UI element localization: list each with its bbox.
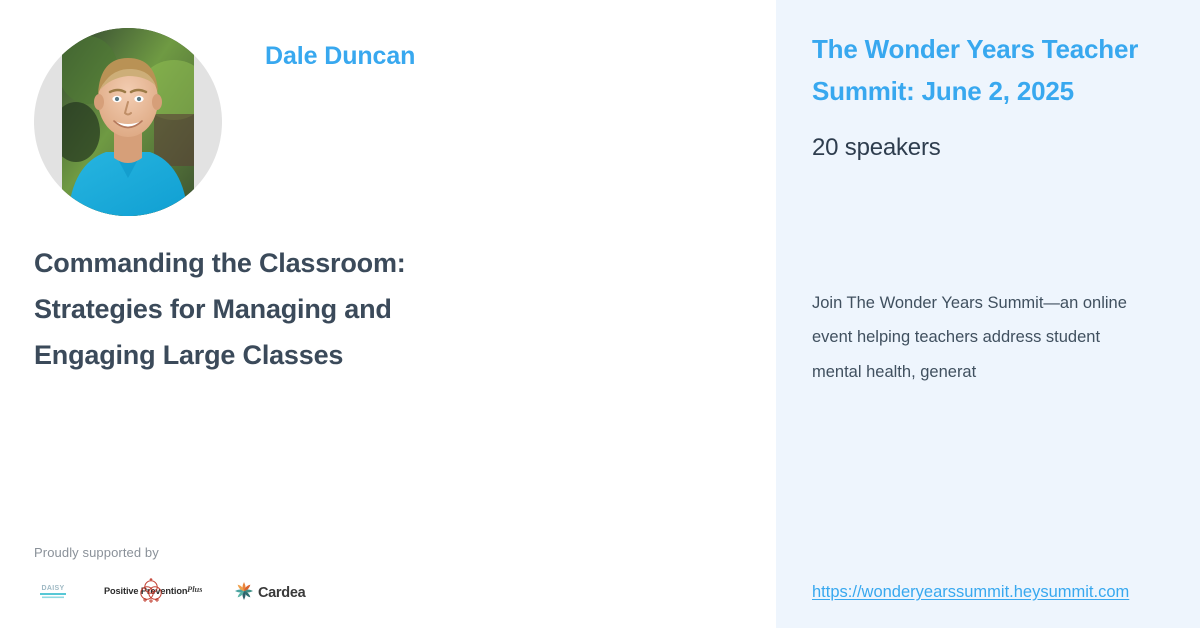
cardea-logo: Cardea [234,580,308,602]
summit-description-line: mental health, generat [812,355,1200,389]
summit-description-line: event helping teachers address student [812,320,1200,354]
positive-prevention-plus-logo-mark: Positive Prevention Plus [104,578,202,604]
sponsors-label: Proudly supported by [34,545,534,560]
positive-prevention-plus-logo: Positive Prevention Plus [104,578,202,604]
speaker-name: Dale Duncan [265,42,415,71]
summit-url[interactable]: https://wonderyearssummit.heysummit.com [812,583,1129,602]
summit-description-line: Join The Wonder Years Summit—an online [812,286,1200,320]
svg-text:Plus: Plus [187,584,202,594]
talk-title: Commanding the Classroom: Strategies for… [34,241,504,379]
portrait-illustration [62,28,194,216]
speaker-panel: Dale Duncan Commanding the Classroom: St… [0,0,776,628]
avatar-photo [62,28,194,216]
speaker-share-card: Dale Duncan Commanding the Classroom: St… [0,0,1200,628]
summit-panel: The Wonder Years Teacher Summit: June 2,… [776,0,1200,628]
speaker-count: 20 speakers [812,134,1200,162]
daisy-logo: DAISY [34,580,72,602]
summit-title: The Wonder Years Teacher Summit: June 2,… [812,28,1200,112]
sponsor-logo-row: DAISY Positive Prevention Plus [34,578,534,604]
summit-description: Join The Wonder Years Summit—an online e… [812,286,1200,389]
svg-text:Cardea: Cardea [258,585,307,601]
speaker-header: Dale Duncan [34,28,415,216]
sponsors-section: Proudly supported by DAISY Positive Prev… [34,545,534,604]
avatar [34,28,222,216]
daisy-logo-mark: DAISY [34,580,72,602]
svg-text:DAISY: DAISY [42,585,65,592]
cardea-logo-mark: Cardea [234,580,308,602]
